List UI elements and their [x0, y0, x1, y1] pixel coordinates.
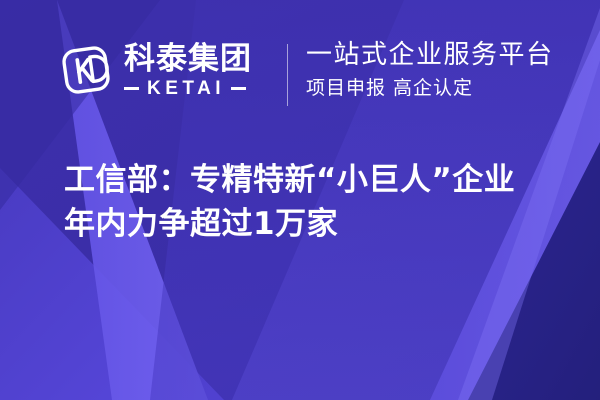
wordmark: 科泰集团 KETAI [124, 42, 252, 98]
company-name-en: KETAI [139, 79, 231, 98]
wordmark-dash-right [231, 87, 246, 90]
headline-line-1: 工信部：专精特新“小巨人”企业 [64, 158, 569, 202]
brand-lockup[interactable]: 科泰集团 KETAI [58, 42, 252, 98]
wordmark-dash-left [124, 87, 139, 90]
header-divider [287, 44, 288, 106]
headline-line-2: 年内力争超过1万家 [64, 202, 569, 246]
banner-header: 科泰集团 KETAI 一站式企业服务平台 项目申报 高企认定 [0, 0, 600, 140]
company-name-en-row: KETAI [124, 79, 252, 98]
tagline-block: 一站式企业服务平台 项目申报 高企认定 [306, 40, 554, 99]
tagline-primary: 一站式企业服务平台 [306, 40, 554, 71]
company-name-cn: 科泰集团 [124, 43, 252, 76]
tagline-secondary: 项目申报 高企认定 [306, 77, 554, 100]
headline: 工信部：专精特新“小巨人”企业 年内力争超过1万家 [64, 158, 569, 246]
promo-banner: 科泰集团 KETAI 一站式企业服务平台 项目申报 高企认定 工信部：专精特新“… [0, 0, 600, 400]
ketai-kt-monogram-logo [58, 42, 114, 98]
